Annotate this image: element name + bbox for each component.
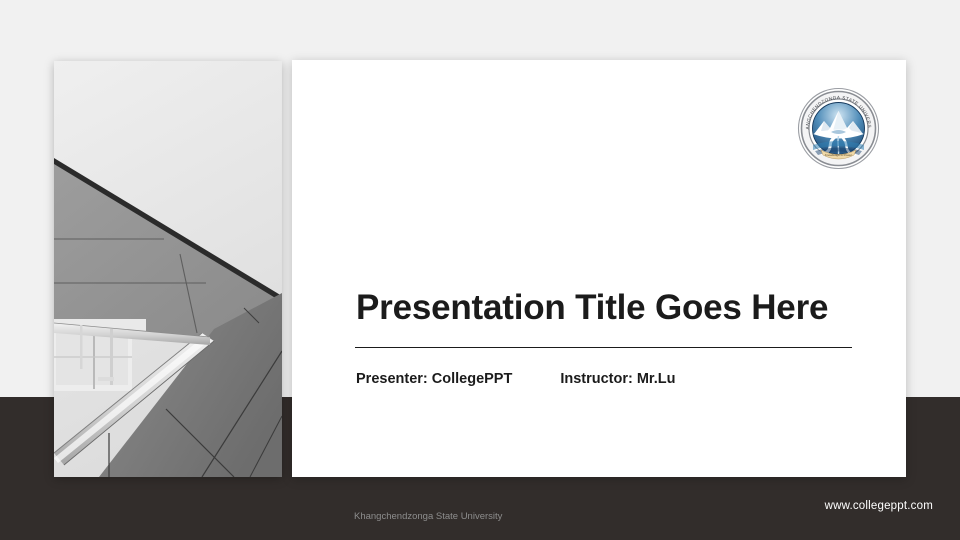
architecture-photo [54, 61, 282, 477]
university-seal-icon: KHANGCHENDZONGA STATE UNIVERSITY ★ SIKKI… [797, 87, 880, 170]
presentation-slide[interactable]: KHANGCHENDZONGA STATE UNIVERSITY ★ SIKKI… [292, 60, 906, 477]
page-title: Presentation Title Goes Here [356, 288, 828, 328]
slide-preview-canvas: www.collegeppt.com [0, 0, 960, 540]
svg-text:Knowledge is Power: Knowledge is Power [825, 153, 852, 157]
instructor-label: Instructor: Mr.Lu [560, 371, 675, 387]
title-divider [355, 347, 852, 348]
architecture-photo-graphic [54, 61, 282, 477]
university-seal-graphic: KHANGCHENDZONGA STATE UNIVERSITY ★ SIKKI… [797, 87, 880, 170]
credits-line: Presenter: CollegePPTInstructor: Mr.Lu [356, 371, 676, 387]
presenter-label: Presenter: CollegePPT [356, 371, 512, 387]
university-name: Khangchendzonga State University [354, 511, 502, 522]
website-url: www.collegeppt.com [825, 500, 933, 512]
